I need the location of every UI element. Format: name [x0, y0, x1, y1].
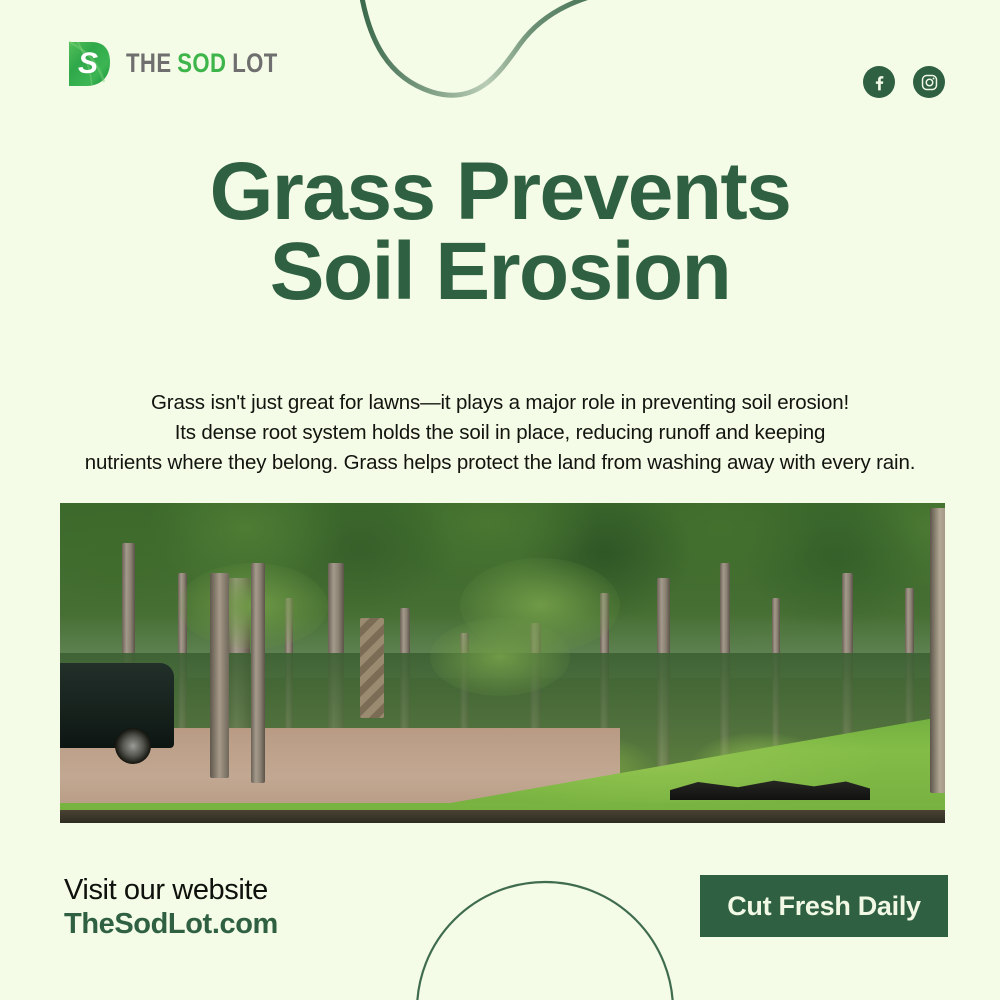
body-line-3: nutrients where they belong. Grass helps…: [50, 448, 950, 478]
leaf-logo-icon: S: [64, 36, 112, 90]
photo-palm-trunk: [210, 573, 229, 778]
body-line-1: Grass isn't just great for lawns—it play…: [50, 388, 950, 418]
lawn-photo: [60, 503, 945, 823]
photo-vehicle-wheel: [115, 728, 151, 764]
photo-mulch-edge: [60, 810, 945, 823]
website-callout: Visit our website TheSodLot.com: [64, 873, 278, 941]
photo-foreground-trunk: [930, 508, 945, 793]
headline-line-1: Grass Prevents: [0, 152, 1000, 232]
visit-label: Visit our website: [64, 873, 278, 907]
header: S THE SOD LOT: [0, 0, 1000, 130]
wordmark-sod: SOD: [177, 48, 226, 79]
wordmark-the: THE: [126, 48, 172, 79]
bottom-circle-outline: [417, 882, 673, 1000]
brand-wordmark: THE SOD LOT: [126, 48, 278, 79]
cut-fresh-daily-button[interactable]: Cut Fresh Daily: [700, 875, 948, 937]
photo-palm-frond: [430, 618, 570, 696]
body-line-2: Its dense root system holds the soil in …: [50, 418, 950, 448]
logo-mark-letter: S: [78, 47, 98, 80]
photo-palm-trunk: [360, 618, 384, 718]
brand-logo[interactable]: S THE SOD LOT: [64, 36, 311, 90]
body-paragraph: Grass isn't just great for lawns—it play…: [50, 388, 950, 478]
website-url[interactable]: TheSodLot.com: [64, 907, 278, 941]
social-links: [863, 66, 945, 98]
social-media-poster: S THE SOD LOT: [0, 0, 1000, 1000]
wordmark-lot: LOT: [232, 48, 278, 79]
instagram-icon[interactable]: [913, 66, 945, 98]
photo-tree-trunk: [251, 563, 265, 783]
cta-button-label: Cut Fresh Daily: [727, 891, 921, 922]
headline-line-2: Soil Erosion: [0, 232, 1000, 312]
facebook-icon[interactable]: [863, 66, 895, 98]
page-title: Grass Prevents Soil Erosion: [0, 152, 1000, 313]
